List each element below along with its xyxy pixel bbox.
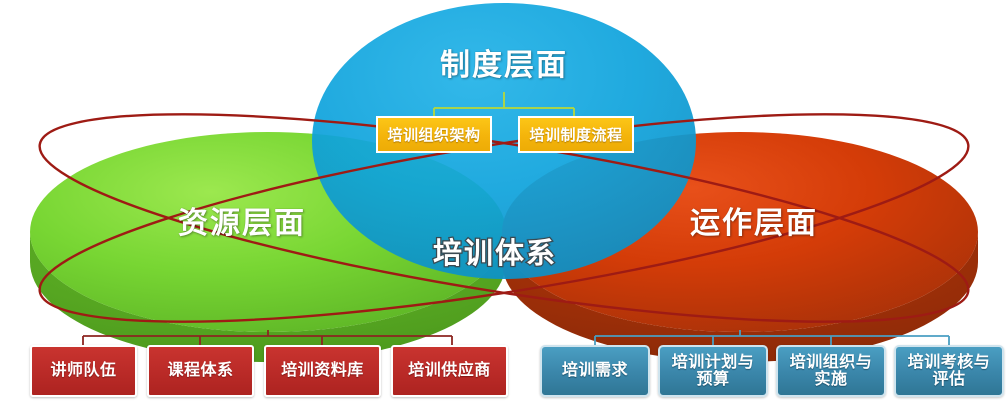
resource-card-material-library[interactable]: 培训资料库 xyxy=(264,345,381,397)
operation-card-training-demand[interactable]: 培训需求 xyxy=(540,345,650,397)
resource-card-trainer-team[interactable]: 讲师队伍 xyxy=(30,345,137,397)
operation-card-assess-and-evaluate[interactable]: 培训考核与评估 xyxy=(894,345,1004,397)
resource-card-training-supplier[interactable]: 培训供应商 xyxy=(391,345,508,397)
center-label-training-system: 培训体系 xyxy=(433,230,557,272)
operation-card-organize-and-implement[interactable]: 培训组织与实施 xyxy=(776,345,886,397)
operation-card-plan-and-budget[interactable]: 培训计划与预算 xyxy=(658,345,768,397)
red-ellipse-title: 运作层面 xyxy=(690,198,818,242)
resource-card-course-system[interactable]: 课程体系 xyxy=(147,345,254,397)
training-system-venn-diagram: 制度层面 资源层面 运作层面 培训体系 培训组织架构 培训制度流程 讲师队伍 课… xyxy=(0,0,1008,407)
green-ellipse-title: 资源层面 xyxy=(178,198,306,242)
institution-item-training-policy-process[interactable]: 培训制度流程 xyxy=(518,116,634,153)
blue-ellipse-title: 制度层面 xyxy=(440,40,568,84)
institution-item-training-org-structure[interactable]: 培训组织架构 xyxy=(376,116,492,153)
